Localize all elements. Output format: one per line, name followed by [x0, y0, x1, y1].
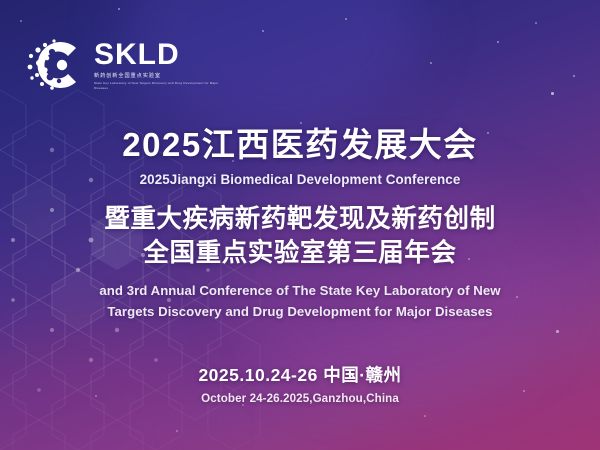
subtitle-english-line-2: Targets Discovery and Drug Development f… — [0, 301, 600, 322]
skld-logo: SKLD 新药创新全国重点实验室 State Key Laboratory of… — [26, 34, 222, 96]
subtitle-chinese-line-2: 全国重点实验室第三届年会 — [0, 237, 600, 271]
skld-logo-text: SKLD 新药创新全国重点实验室 State Key Laboratory of… — [94, 40, 222, 89]
skld-english-name: State Key Laboratory of New Targets Disc… — [94, 81, 222, 89]
main-title-english: 2025Jiangxi Biomedical Development Confe… — [0, 172, 600, 187]
subtitle-chinese-line-1: 暨重大疾病新药靶发现及新药创制 — [0, 203, 600, 237]
subtitle-english-line-1: and 3rd Annual Conference of The State K… — [0, 280, 600, 301]
conference-poster: SKLD 新药创新全国重点实验室 State Key Laboratory of… — [0, 0, 600, 450]
event-date-english: October 24-26.2025,Ganzhou,China — [0, 392, 600, 405]
skld-molecule-c-icon — [26, 34, 88, 96]
poster-content: 2025江西医药发展大会 2025Jiangxi Biomedical Deve… — [0, 126, 600, 405]
main-title-chinese: 2025江西医药发展大会 — [0, 126, 600, 164]
skld-wordmark: SKLD — [94, 40, 222, 70]
event-date-chinese: 2025.10.24-26 中国·赣州 — [0, 362, 600, 387]
skld-chinese-name: 新药创新全国重点实验室 — [94, 73, 222, 80]
